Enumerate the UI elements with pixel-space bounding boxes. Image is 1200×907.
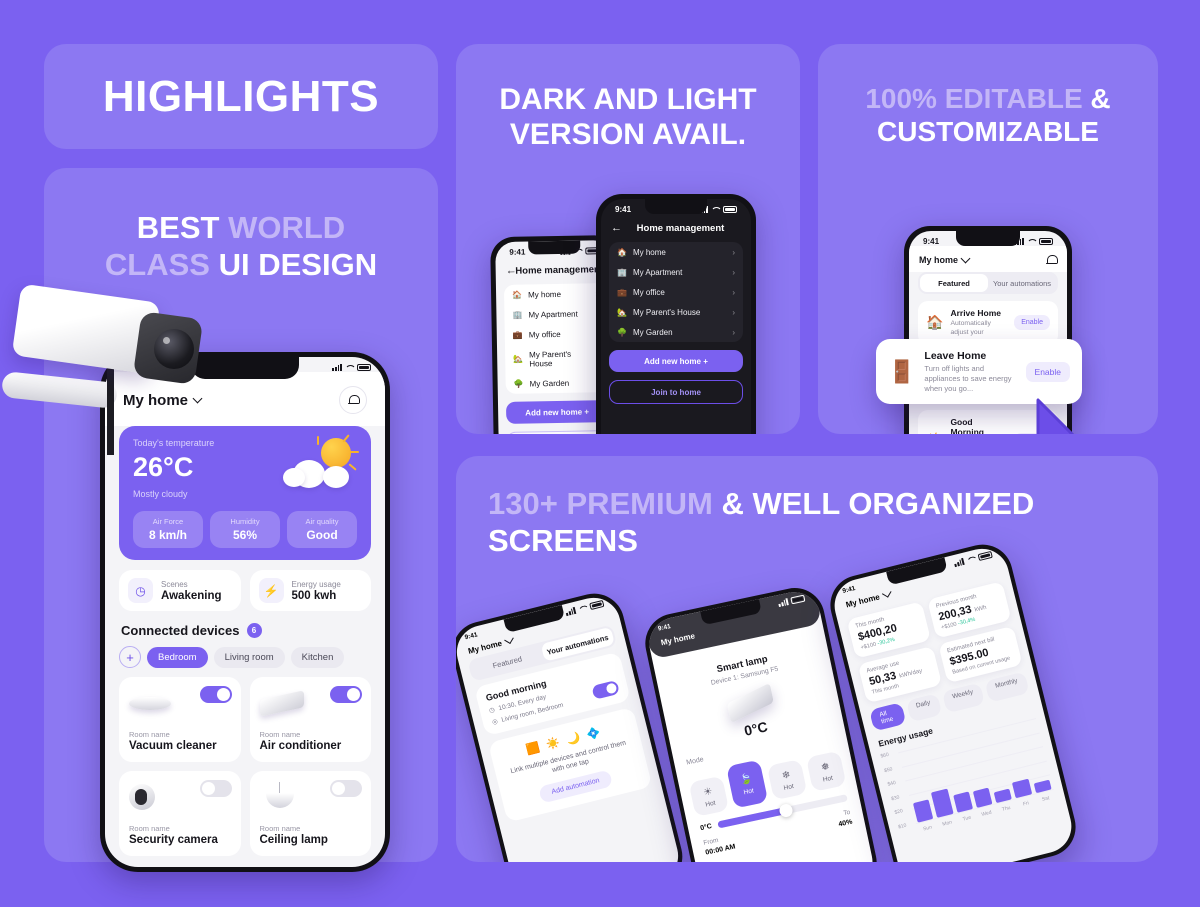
list-item-label: My Parent's House — [633, 308, 700, 317]
heading-strong-1: VERSION AVAIL. — [486, 117, 770, 152]
enable-button[interactable]: Enable — [1026, 362, 1070, 382]
device-room: Room name — [260, 730, 362, 739]
bell-icon[interactable] — [1046, 254, 1057, 266]
device-card-ac[interactable]: Room name Air conditioner — [250, 677, 372, 762]
chip-value: 56% — [214, 528, 276, 542]
screen-header: ← Home management — [601, 214, 751, 242]
apartment-icon: 🏢 — [617, 268, 627, 277]
room-chip-kitchen[interactable]: Kitchen — [291, 647, 345, 668]
parents-house-icon: 🏡 — [617, 308, 627, 317]
battery-icon — [723, 206, 737, 213]
signal-icon — [332, 364, 342, 371]
mode-icon: ❅ — [808, 759, 844, 777]
best-class-heading: BEST WORLD CLASS UI DESIGN — [44, 168, 438, 283]
home-selector-label: My home — [660, 631, 696, 647]
status-time: 9:41 — [615, 205, 631, 214]
parents-house-icon: 🏡 — [513, 355, 523, 364]
quick-actions-row: ◷ Scenes Awakening ⚡ Energy usage 500 kw… — [119, 570, 371, 611]
home-selector-label: My home — [919, 255, 958, 265]
device-toggle[interactable] — [330, 686, 362, 703]
phone-notch — [645, 199, 707, 214]
chart-bar — [913, 799, 934, 823]
status-icons — [1014, 238, 1053, 245]
chart-bar — [994, 789, 1012, 803]
automation-title: Arrive Home — [950, 308, 1007, 318]
energy-label: Energy usage — [292, 580, 341, 589]
heading-strong-1: & — [1090, 83, 1110, 114]
heading-dim-1: 100% EDITABLE — [865, 83, 1090, 114]
status-time: 9:41 — [509, 248, 525, 257]
wifi-icon — [345, 364, 354, 371]
mode-icon: ❄ — [769, 767, 805, 785]
x-tick-label: Thu — [998, 804, 1015, 814]
scenes-value: Awakening — [161, 590, 222, 602]
weather-chip: Air quality Good — [287, 511, 357, 548]
y-tick-label: $40 — [887, 780, 897, 788]
home-icon: 🏠 — [512, 290, 522, 299]
list-item[interactable]: 🏡My Parent's House› — [505, 343, 607, 374]
wifi-icon — [573, 248, 582, 255]
list-item[interactable]: 🌳My Garden› — [609, 322, 743, 342]
weather-illustration — [283, 436, 355, 498]
chevron-down-icon — [504, 635, 514, 645]
list-item-label: My office — [529, 329, 561, 339]
y-tick-label: $10 — [898, 823, 908, 831]
device-room: Room name — [129, 730, 231, 739]
heading-dim-1: 130+ PREMIUM — [488, 486, 721, 521]
y-tick-label: $20 — [894, 808, 904, 816]
status-time: 9:41 — [923, 237, 939, 246]
x-tick-label: Wed — [978, 809, 995, 819]
automation-title: Good Morning — [950, 417, 1007, 434]
chevron-down-icon — [882, 588, 892, 598]
chevron-down-icon — [961, 253, 971, 263]
list-item-label: My Apartment — [528, 309, 578, 319]
device-grid: Room name Vacuum cleaner Room name Air c… — [119, 677, 371, 856]
chip-key: Humidity — [214, 517, 276, 526]
scenes-card[interactable]: ◷ Scenes Awakening — [119, 570, 241, 611]
device-count-badge: 6 — [247, 623, 262, 638]
bell-icon — [348, 394, 359, 406]
garden-icon: 🌳 — [617, 328, 627, 337]
chevron-right-icon: › — [732, 308, 735, 317]
automation-desc: Automatically adjust your — [950, 320, 1007, 338]
screens-heading: 130+ PREMIUM & WELL ORGANIZED SCREENS — [456, 456, 1158, 559]
list-item[interactable]: 🏢My Apartment› — [504, 303, 606, 325]
home-selector[interactable]: My home — [919, 255, 969, 265]
home-management-dark-screen: 9:41 ← Home management 🏠My home› 🏢My Apa… — [601, 199, 751, 434]
connected-devices-title: Connected devices 6 — [121, 623, 371, 638]
device-card-lamp[interactable]: Room name Ceiling lamp — [250, 771, 372, 856]
chart-bar — [953, 791, 973, 812]
heading-dim-2: CLASS — [105, 247, 219, 282]
device-toggle[interactable] — [200, 686, 232, 703]
automation-tabs: Featured Your automations — [918, 272, 1058, 294]
chip-key: Air Force — [137, 517, 199, 526]
security-camera-3d-asset — [2, 285, 217, 455]
panel-dark-light: DARK AND LIGHT VERSION AVAIL. 9:41 ← Hom… — [456, 44, 800, 434]
notifications-button[interactable] — [339, 386, 367, 414]
list-item-label: My Apartment — [633, 268, 682, 277]
tab-featured[interactable]: Featured — [920, 274, 988, 292]
join-to-home-button[interactable]: Join to home — [609, 380, 743, 404]
y-tick-label: $60 — [880, 752, 890, 760]
add-new-home-button[interactable]: Add new home + — [609, 350, 743, 372]
mode-icon: ☀ — [690, 783, 726, 801]
device-name: Vacuum cleaner — [129, 740, 231, 752]
heading-strong-1: BEST — [137, 210, 228, 245]
chevron-right-icon: › — [732, 248, 735, 257]
mode-icon: 🍃 — [729, 771, 765, 789]
x-tick-label: Sat — [1037, 794, 1054, 804]
scenes-label: Scenes — [161, 580, 222, 589]
heading-strong-2: UI DESIGN — [219, 247, 377, 282]
room-filter-list: + Bedroom Living room Kitchen — [119, 646, 371, 668]
garden-icon: 🌳 — [514, 379, 524, 388]
location-icon: ◎ — [491, 717, 498, 726]
room-chip-bedroom[interactable]: Bedroom — [147, 647, 208, 668]
y-tick-label: $30 — [891, 794, 901, 802]
device-name: Security camera — [129, 834, 231, 846]
chip-value: Good — [291, 528, 353, 542]
office-icon: 💼 — [513, 330, 523, 339]
x-tick-label: Fri — [1017, 799, 1034, 809]
office-icon: 💼 — [617, 288, 627, 297]
energy-usage-card[interactable]: ⚡ Energy usage 500 kwh — [250, 570, 372, 611]
clock-icon: ◷ — [488, 705, 495, 714]
pixel-cursor-icon — [1030, 392, 1148, 434]
device-toggle[interactable] — [330, 780, 362, 797]
sun-icon — [321, 438, 351, 468]
mode-button[interactable]: 🍃Hot — [726, 759, 768, 808]
device-toggle[interactable] — [200, 780, 232, 797]
clock-icon: ◷ — [128, 578, 153, 603]
editable-heading: 100% EDITABLE & CUSTOMIZABLE — [818, 44, 1158, 148]
weather-chips: Air Force 8 km/h Humidity 56% Air qualit… — [133, 511, 357, 548]
room-chip-living-room[interactable]: Living room — [214, 647, 285, 668]
mode-label-text: Hot — [705, 800, 716, 809]
list-item-label: My office — [633, 288, 665, 297]
panel-highlights: HIGHLIGHTS — [44, 44, 438, 149]
energy-value: 500 kwh — [292, 590, 341, 602]
heading-dim-1: DARK AND LIGHT — [486, 82, 770, 117]
device-name: Air conditioner — [260, 740, 362, 752]
wifi-icon — [1027, 238, 1036, 245]
chevron-right-icon: › — [732, 328, 735, 337]
list-item[interactable]: 🏡My Parent's House› — [609, 302, 743, 322]
add-new-home-button[interactable]: Add new home + — [506, 400, 608, 424]
list-item-label: My Garden — [633, 328, 673, 337]
list-item-label: My home — [633, 248, 666, 257]
home-list: 🏠My home› 🏢My Apartment› 💼My office› 🏡My… — [504, 283, 608, 394]
list-item[interactable]: 💼My office› — [505, 323, 607, 345]
dark-light-heading: DARK AND LIGHT VERSION AVAIL. — [456, 44, 800, 153]
automation-title: Leave Home — [924, 350, 1016, 362]
list-item[interactable]: 🏠My home› — [504, 283, 606, 305]
section-label: Connected devices — [121, 623, 240, 638]
home-management-dark-phone: 9:41 ← Home management 🏠My home› 🏢My Apa… — [596, 194, 756, 434]
device-room: Room name — [260, 824, 362, 833]
list-item-label: My home — [528, 289, 561, 299]
panel-editable: 100% EDITABLE & CUSTOMIZABLE 9:41 My hom… — [818, 44, 1158, 434]
screen-title: Home management — [620, 223, 741, 234]
x-tick-label: Sun — [919, 824, 936, 834]
screen-title: Home management — [515, 264, 604, 277]
home-list: 🏠My home› 🏢My Apartment› 💼My office› 🏡My… — [609, 242, 743, 342]
home-icon: 🏠 — [617, 248, 627, 257]
x-tick-label: Mon — [939, 819, 956, 829]
mode-label-text: Hot — [822, 775, 833, 784]
status-icons — [332, 364, 371, 371]
list-item[interactable]: 🏢My Apartment› — [609, 262, 743, 282]
list-item-label: My Garden — [530, 378, 570, 388]
add-room-button[interactable]: + — [119, 646, 141, 668]
weather-chip: Humidity 56% — [210, 511, 280, 548]
to-value: 40% — [838, 819, 853, 829]
sun-icon: ☀️ — [926, 432, 943, 434]
chart-bar — [931, 788, 953, 818]
highlights-board: HIGHLIGHTS BEST WORLD CLASS UI DESIGN 9:… — [0, 0, 1200, 907]
battery-icon — [357, 364, 371, 371]
chevron-right-icon: › — [732, 268, 735, 277]
heading-strong-1: & WELL ORGANIZED — [721, 486, 1034, 521]
mode-label-text: Hot — [783, 783, 794, 792]
door-icon: 🚪 — [888, 359, 915, 385]
list-item[interactable]: 💼My office› — [609, 282, 743, 302]
hero-body: Today's temperature 26°C Mostly cloudy A… — [105, 426, 385, 856]
device-room: Room name — [129, 824, 231, 833]
weather-chip: Air Force 8 km/h — [133, 511, 203, 548]
phone-notch — [956, 231, 1020, 246]
automation-desc: Turn off lights and appliances to save e… — [924, 364, 1016, 393]
mode-label-text: Hot — [743, 787, 754, 796]
device-card-camera[interactable]: Room name Security camera — [119, 771, 241, 856]
list-item[interactable]: 🏠My home› — [609, 242, 743, 262]
y-tick-label: $50 — [884, 766, 894, 774]
to-label: To — [843, 809, 851, 817]
device-name: Ceiling lamp — [260, 834, 362, 846]
join-to-home-button[interactable]: Join to home — [506, 430, 608, 434]
house-icon: 🏠 — [926, 314, 943, 331]
list-item[interactable]: 🌳My Garden› — [505, 372, 607, 394]
list-item-label: My Parent's House — [529, 349, 591, 368]
chevron-right-icon: › — [732, 288, 735, 297]
battery-icon — [1039, 238, 1053, 245]
bolt-icon: ⚡ — [259, 578, 284, 603]
tab-your-automations[interactable]: Your automations — [988, 274, 1056, 292]
wifi-icon — [711, 206, 720, 213]
heading-strong-2: CUSTOMIZABLE — [848, 115, 1128, 148]
device-card-vacuum[interactable]: Room name Vacuum cleaner — [119, 677, 241, 762]
heading-strong-2: SCREENS — [488, 523, 1158, 560]
chip-key: Air quality — [291, 517, 353, 526]
heading-dim-1: WORLD — [228, 210, 345, 245]
enable-button[interactable]: Enable — [1014, 315, 1050, 330]
chip-value: 8 km/h — [137, 528, 199, 542]
chart-bar — [1034, 780, 1052, 793]
page-title: HIGHLIGHTS — [103, 72, 379, 122]
panel-screens: 130+ PREMIUM & WELL ORGANIZED SCREENS 9:… — [456, 456, 1158, 862]
automations-topbar: My home — [909, 246, 1067, 272]
x-tick-label: Tue — [958, 814, 975, 824]
apartment-icon: 🏢 — [512, 310, 522, 319]
